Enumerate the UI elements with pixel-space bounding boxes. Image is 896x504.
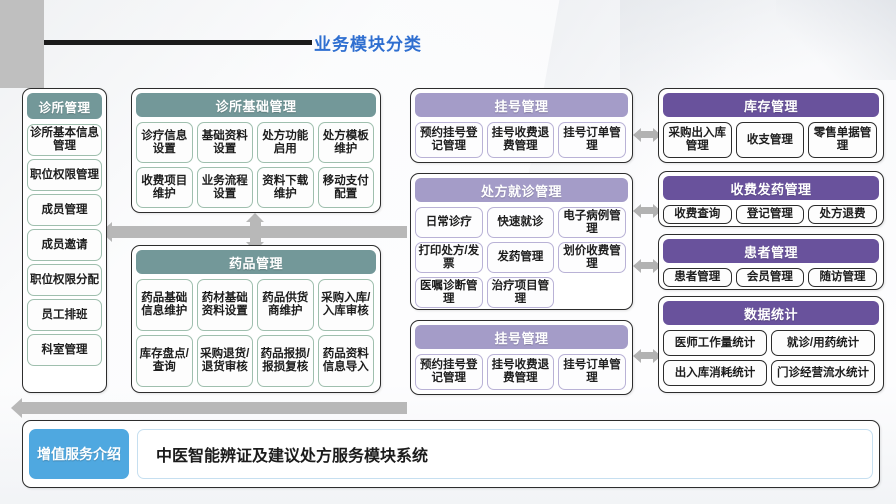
group-body-clinic-management: 诊所基本信息管理 职位权限管理 成员管理 成员邀请 职位权限分配 员工排班 科室… <box>27 124 102 366</box>
group-body-stock-management: 采购出入库管理 收支管理 零售单据管理 <box>663 122 879 158</box>
module-card[interactable]: 治疗项目管理 <box>487 277 555 308</box>
module-card[interactable]: 药品供货商维护 <box>257 279 314 331</box>
group-header-prescription-visit-management: 处方就诊管理 <box>415 178 628 202</box>
module-card[interactable]: 药品报损/报损复核 <box>257 335 314 387</box>
background-corner-top-right <box>776 0 896 80</box>
module-card[interactable]: 登记管理 <box>736 205 805 224</box>
group-header-registration-bottom: 挂号管理 <box>415 325 628 349</box>
group-body-registration-top: 预约挂号登记管理 挂号收费退费管理 挂号订单管理 <box>415 122 628 158</box>
module-card[interactable]: 预约挂号登记管理 <box>415 122 483 158</box>
gray-accent-band <box>0 0 44 88</box>
module-card[interactable]: 打印处方/发票 <box>415 242 483 273</box>
group-header-clinic-management: 诊所管理 <box>27 93 102 119</box>
module-card[interactable]: 职位权限管理 <box>27 159 102 191</box>
module-card[interactable]: 业务流程设置 <box>197 167 254 208</box>
module-card[interactable]: 零售单据管理 <box>808 122 877 158</box>
flow-arrow-double-4 <box>641 352 653 359</box>
flow-arrow-double-3 <box>641 262 653 269</box>
module-card[interactable]: 预约挂号登记管理 <box>415 354 483 390</box>
value-added-service-bar: 增值服务介绍 中医智能辨证及建议处方服务模块系统 <box>22 420 880 488</box>
module-card[interactable]: 诊疗信息设置 <box>136 122 193 163</box>
group-body-patient-management: 患者管理 会员管理 随访管理 <box>663 268 879 287</box>
module-card[interactable]: 成员管理 <box>27 194 102 226</box>
module-card[interactable]: 收费查询 <box>663 205 732 224</box>
group-body-drug-management: 药品基础信息维护 药材基础资料设置 药品供货商维护 采购入库/入库审核 库存盘点… <box>136 279 376 387</box>
module-card[interactable]: 成员邀请 <box>27 229 102 261</box>
module-card[interactable]: 医嘱诊断管理 <box>415 277 483 308</box>
group-data-statistics: 数据统计 医师工作量统计 就诊/用药统计 出入库消耗统计 门诊经营流水统计 <box>658 296 884 393</box>
module-card[interactable]: 移动支付配置 <box>318 167 375 208</box>
module-card[interactable]: 科室管理 <box>27 334 102 366</box>
group-header-drug-management: 药品管理 <box>136 250 376 274</box>
flow-arrow-vertical <box>250 222 261 242</box>
module-card[interactable]: 采购出入库管理 <box>663 122 732 158</box>
group-drug-management: 药品管理 药品基础信息维护 药材基础资料设置 药品供货商维护 采购入库/入库审核… <box>131 245 381 393</box>
title-rule <box>44 40 312 45</box>
module-card[interactable]: 员工排班 <box>27 299 102 331</box>
module-card[interactable]: 日常诊疗 <box>415 207 483 238</box>
group-header-patient-management: 患者管理 <box>663 239 879 263</box>
module-card[interactable]: 药品基础信息维护 <box>136 279 193 331</box>
group-header-clinic-base-management: 诊所基础管理 <box>136 93 376 117</box>
group-fee-dispense-management: 收费发药管理 收费查询 登记管理 处方退费 <box>658 171 884 227</box>
module-card[interactable]: 发药管理 <box>487 242 555 273</box>
module-card[interactable]: 划价收费管理 <box>558 242 626 273</box>
group-registration-management-bottom: 挂号管理 预约挂号登记管理 挂号收费退费管理 挂号订单管理 <box>410 320 633 395</box>
group-header-fee-dispense-management: 收费发药管理 <box>663 176 879 200</box>
module-card[interactable]: 挂号收费退费管理 <box>487 354 555 390</box>
group-header-stock-management: 库存管理 <box>663 93 879 117</box>
group-body-data-statistics: 医师工作量统计 就诊/用药统计 出入库消耗统计 门诊经营流水统计 <box>663 330 879 386</box>
module-card[interactable]: 挂号收费退费管理 <box>487 122 555 158</box>
module-card[interactable]: 资料下载维护 <box>257 167 314 208</box>
flow-arrow-double-1 <box>641 131 653 138</box>
module-card[interactable]: 收支管理 <box>736 122 805 158</box>
group-header-registration-top: 挂号管理 <box>415 93 628 117</box>
module-card[interactable]: 采购入库/入库审核 <box>318 279 375 331</box>
module-card[interactable]: 会员管理 <box>736 268 805 287</box>
module-card[interactable]: 库存盘点/查询 <box>136 335 193 387</box>
group-header-data-statistics: 数据统计 <box>663 301 879 325</box>
module-card[interactable]: 药品资料信息导入 <box>318 335 375 387</box>
flow-arrow-double-2 <box>641 207 653 214</box>
module-card[interactable]: 采购退货/退货审核 <box>197 335 254 387</box>
value-added-service-text[interactable]: 中医智能辨证及建议处方服务模块系统 <box>137 429 873 479</box>
module-card[interactable]: 职位权限分配 <box>27 264 102 296</box>
module-card[interactable]: 挂号订单管理 <box>558 354 626 390</box>
value-added-service-label: 增值服务介绍 <box>29 429 129 479</box>
module-card[interactable]: 医师工作量统计 <box>663 330 767 356</box>
module-card[interactable]: 挂号订单管理 <box>558 122 626 158</box>
module-card[interactable]: 处方功能启用 <box>257 122 314 163</box>
group-body-registration-bottom: 预约挂号登记管理 挂号收费退费管理 挂号订单管理 <box>415 354 628 390</box>
page-title: 业务模块分类 <box>314 30 422 55</box>
module-card[interactable]: 药材基础资料设置 <box>197 279 254 331</box>
module-card[interactable]: 处方模板维护 <box>318 122 375 163</box>
group-prescription-visit-management: 处方就诊管理 日常诊疗 快速就诊 电子病例管理 打印处方/发票 发药管理 划价收… <box>410 173 633 310</box>
module-card[interactable]: 快速就诊 <box>487 207 555 238</box>
group-stock-management: 库存管理 采购出入库管理 收支管理 零售单据管理 <box>658 88 884 163</box>
module-card[interactable]: 门诊经营流水统计 <box>771 360 875 386</box>
group-body-clinic-base-management: 诊疗信息设置 基础资料设置 处方功能启用 处方模板维护 收费项目维护 业务流程设… <box>136 122 376 208</box>
group-body-prescription-visit-management: 日常诊疗 快速就诊 电子病例管理 打印处方/发票 发药管理 划价收费管理 医嘱诊… <box>415 207 628 308</box>
group-patient-management: 患者管理 患者管理 会员管理 随访管理 <box>658 234 884 290</box>
module-card[interactable]: 处方退费 <box>808 205 877 224</box>
group-clinic-management: 诊所管理 诊所基本信息管理 职位权限管理 成员管理 成员邀请 职位权限分配 员工… <box>22 88 107 393</box>
module-card[interactable]: 电子病例管理 <box>558 207 626 238</box>
group-clinic-base-management: 诊所基础管理 诊疗信息设置 基础资料设置 处方功能启用 处方模板维护 收费项目维… <box>131 88 381 213</box>
flow-arrow-horizontal-bottom <box>22 402 407 414</box>
module-card[interactable]: 出入库消耗统计 <box>663 360 767 386</box>
module-card[interactable]: 收费项目维护 <box>136 167 193 208</box>
group-registration-management-top: 挂号管理 预约挂号登记管理 挂号收费退费管理 挂号订单管理 <box>410 88 633 163</box>
module-card[interactable]: 基础资料设置 <box>197 122 254 163</box>
module-card[interactable]: 患者管理 <box>663 268 732 287</box>
group-body-fee-dispense-management: 收费查询 登记管理 处方退费 <box>663 205 879 224</box>
module-card[interactable]: 就诊/用药统计 <box>771 330 875 356</box>
module-card[interactable]: 随访管理 <box>808 268 877 287</box>
module-card[interactable]: 诊所基本信息管理 <box>27 124 102 156</box>
